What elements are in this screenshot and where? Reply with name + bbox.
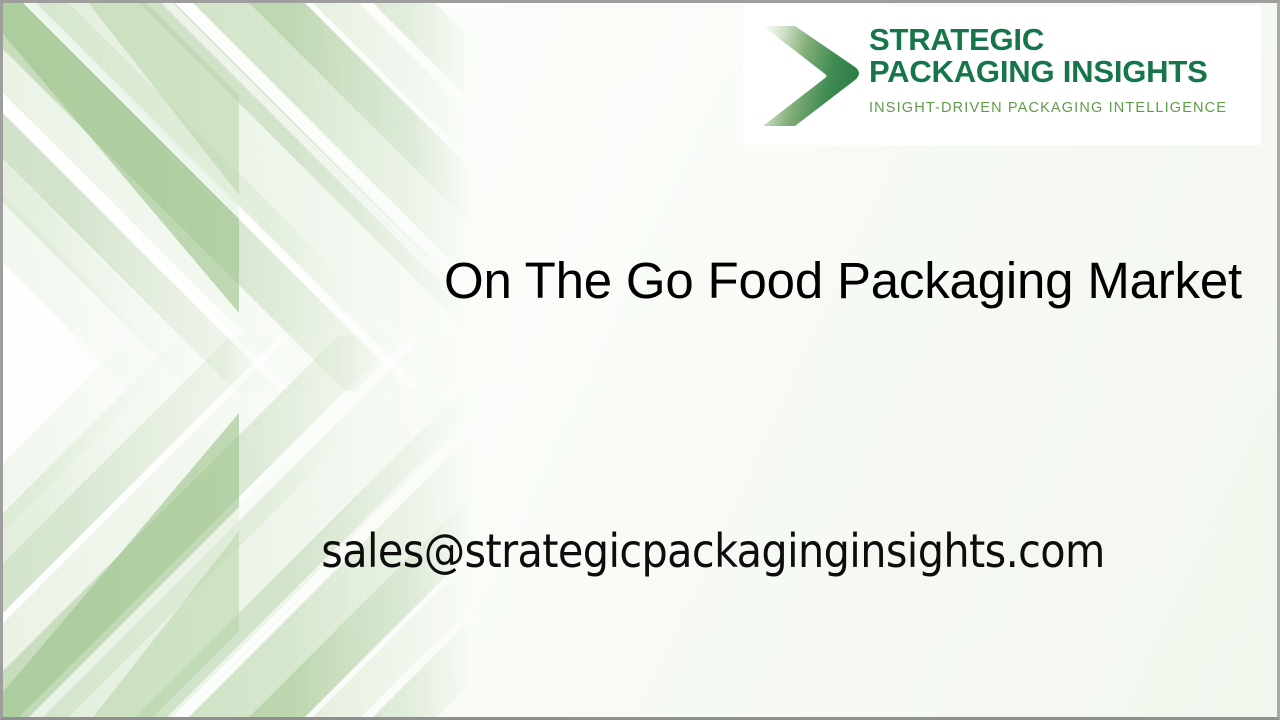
logo-line-1: STRATEGIC bbox=[869, 24, 1261, 56]
title-line-1: On The Go Food Packaging bbox=[444, 252, 1073, 309]
title-line-2: Market bbox=[1087, 252, 1242, 309]
title-slide: STRATEGIC PACKAGING INSIGHTS INSIGHT-DRI… bbox=[0, 0, 1280, 720]
chevron-mark-icon bbox=[755, 20, 863, 132]
logo-line-2: PACKAGING INSIGHTS bbox=[869, 56, 1261, 88]
logo-tagline: INSIGHT-DRIVEN PACKAGING INTELLIGENCE bbox=[869, 100, 1261, 116]
page-title: On The Go Food Packaging Market bbox=[403, 255, 1280, 307]
company-logo: STRATEGIC PACKAGING INSIGHTS INSIGHT-DRI… bbox=[743, 6, 1261, 145]
logo-text-block: STRATEGIC PACKAGING INSIGHTS INSIGHT-DRI… bbox=[869, 24, 1261, 116]
contact-email[interactable]: sales@strategicpackaginginsights.com bbox=[183, 524, 1243, 578]
